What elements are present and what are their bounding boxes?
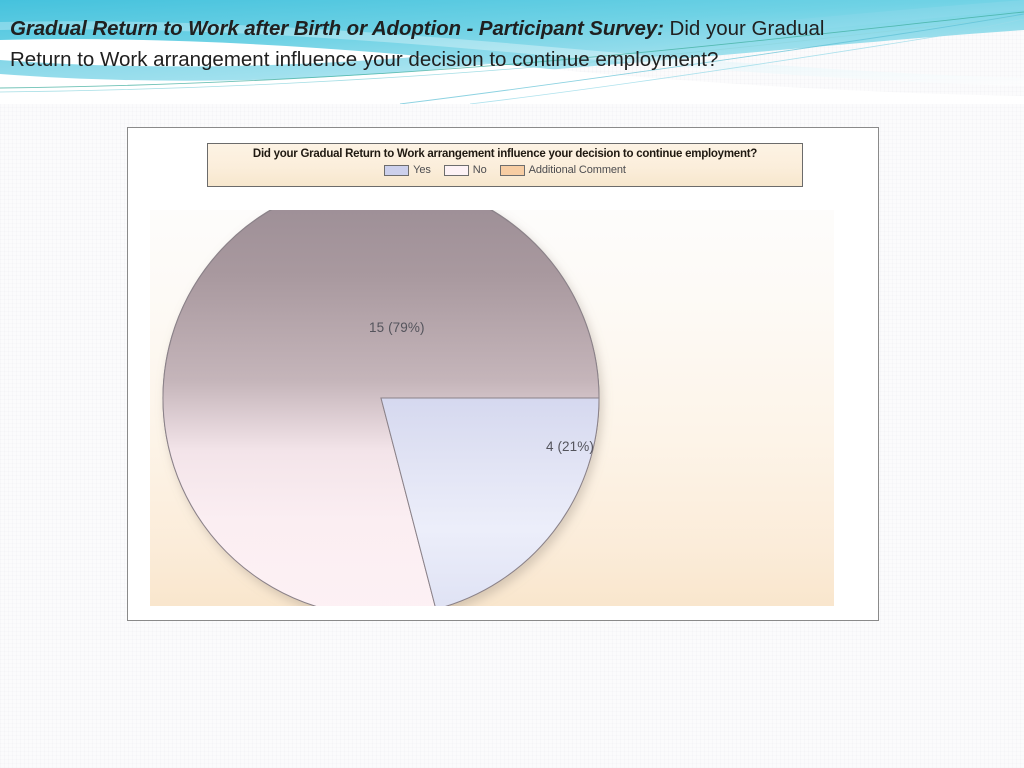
chart-card: Did your Gradual Return to Work arrangem… <box>127 127 879 621</box>
pie-label-no: 15 (79%) <box>369 320 425 335</box>
chart-legend: Yes No Additional Comment <box>208 164 802 176</box>
legend-item-no[interactable]: No <box>444 164 487 176</box>
slide-title: Gradual Return to Work after Birth or Ad… <box>10 13 860 75</box>
slide-canvas: Gradual Return to Work after Birth or Ad… <box>0 0 1024 768</box>
slide-title-emphasis: Gradual Return to Work after Birth or Ad… <box>10 17 664 40</box>
pie-label-yes: 4 (21%) <box>546 439 594 454</box>
legend-swatch-yes <box>384 165 409 176</box>
legend-label-yes: Yes <box>413 164 431 176</box>
legend-item-yes[interactable]: Yes <box>384 164 431 176</box>
chart-title: Did your Gradual Return to Work arrangem… <box>208 148 802 160</box>
chart-plot-area: 15 (79%) 4 (21%) <box>150 210 834 606</box>
legend-label-additional-comment: Additional Comment <box>529 164 626 176</box>
legend-swatch-no <box>444 165 469 176</box>
legend-swatch-additional-comment <box>500 165 525 176</box>
legend-item-additional-comment[interactable]: Additional Comment <box>500 164 626 176</box>
pie-chart <box>150 210 834 606</box>
pie-body <box>163 210 599 606</box>
header-banner: Gradual Return to Work after Birth or Ad… <box>0 0 1024 104</box>
chart-header-box: Did your Gradual Return to Work arrangem… <box>207 143 803 187</box>
legend-label-no: No <box>473 164 487 176</box>
